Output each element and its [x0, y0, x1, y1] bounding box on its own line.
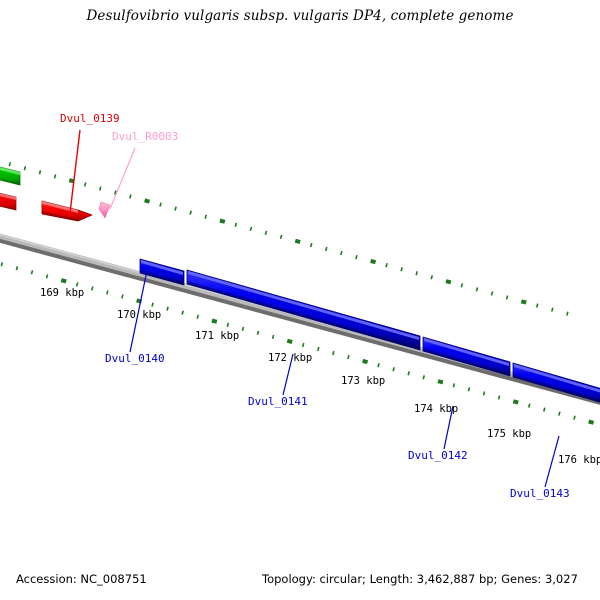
gene-label-dvul-0140[interactable]: Dvul_0140: [105, 352, 165, 365]
gene-dvul-0139[interactable]: [42, 201, 92, 221]
genome-axis: [0, 232, 600, 405]
gene-label-dvul-r0003[interactable]: Dvul_R0003: [112, 130, 178, 143]
genome-map-canvas: 169 kbp 170 kbp 171 kbp 172 kbp 173 kbp …: [0, 0, 600, 600]
leader-dvul-0139: [70, 130, 80, 213]
scale-label: 175 kbp: [487, 428, 531, 440]
leader-dvul-0143: [545, 436, 559, 487]
genome-viewer: Desulfovibrio vulgaris subsp. vulgaris D…: [0, 0, 600, 600]
scale-label: 173 kbp: [341, 375, 385, 387]
gene-label-dvul-0143[interactable]: Dvul_0143: [510, 487, 570, 500]
status-bar: Accession: NC_008751 Topology: circular;…: [0, 572, 600, 592]
gene-label-dvul-0141[interactable]: Dvul_0141: [248, 395, 308, 408]
leader-dvul-r0003: [110, 148, 135, 209]
scale-label: 171 kbp: [195, 330, 239, 342]
gene-label-dvul-0139[interactable]: Dvul_0139: [60, 112, 120, 125]
scale-label: 176 kbp: [558, 454, 600, 466]
scale-label: 172 kbp: [268, 352, 312, 364]
genome-meta-text: Topology: circular; Length: 3,462,887 bp…: [262, 572, 578, 586]
accession-text: Accession: NC_008751: [16, 572, 147, 586]
edge-feature-red[interactable]: [0, 188, 16, 210]
scale-label: 174 kbp: [414, 403, 458, 415]
scale-ticks-upper: [0, 160, 574, 315]
scale-label: 169 kbp: [40, 287, 84, 299]
gene-dvul-r0003[interactable]: [99, 202, 110, 218]
scale-label: 170 kbp: [117, 309, 161, 321]
gene-label-dvul-0142[interactable]: Dvul_0142: [408, 449, 468, 462]
